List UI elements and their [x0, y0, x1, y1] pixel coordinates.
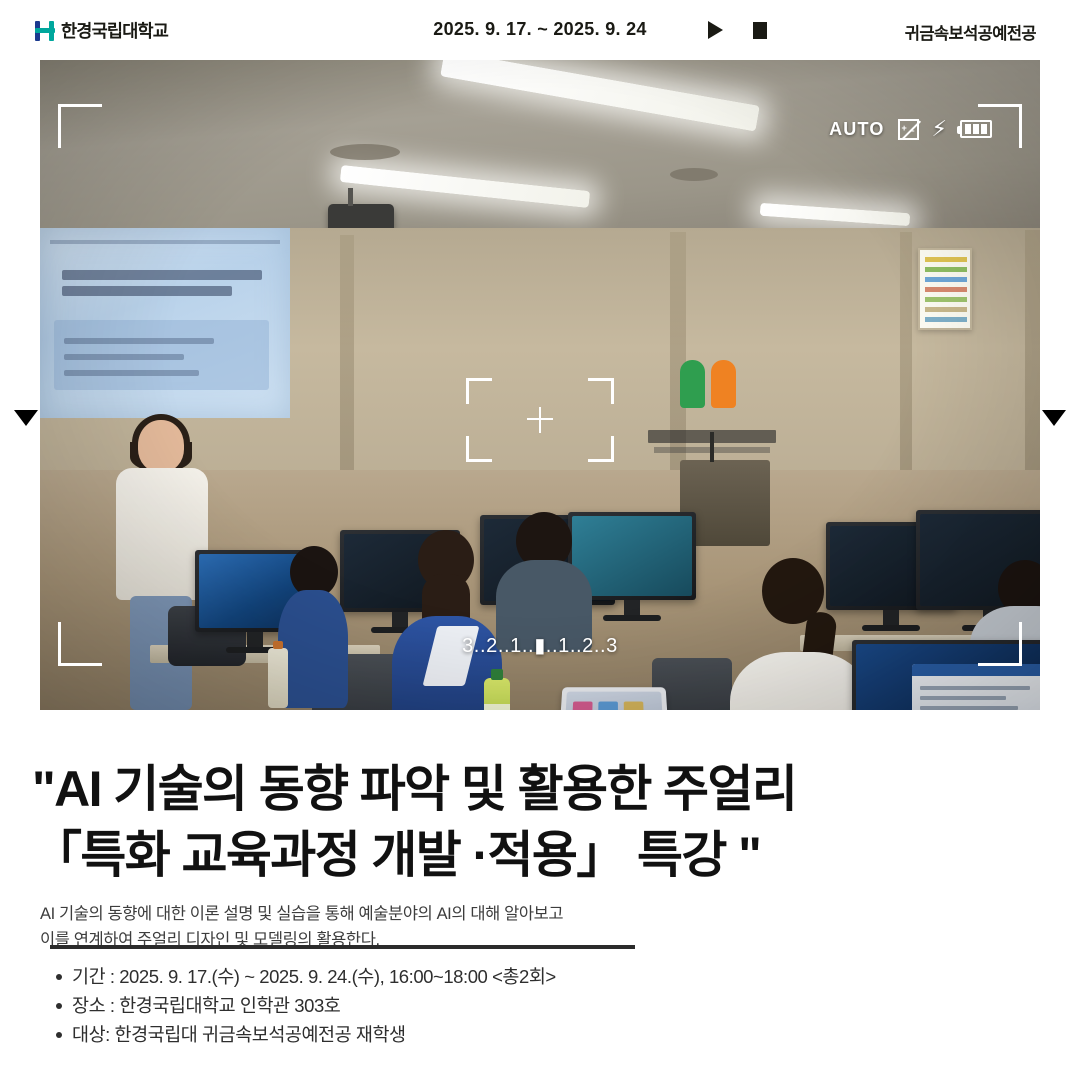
wall-panel	[900, 232, 912, 482]
date-range-label: 2025. 9. 17. ~ 2025. 9. 24	[433, 19, 646, 40]
beverage-bottle	[484, 678, 510, 710]
header-bar: 한경국립대학교 2025. 9. 17. ~ 2025. 9. 24 귀금속보석…	[0, 0, 1080, 60]
wall-poster-frame	[918, 248, 972, 330]
list-item: 장소 : 한경국립대학교 인학관 303호	[72, 991, 1010, 1020]
brand-block: 한경국립대학교	[34, 18, 168, 43]
department-label: 귀금속보석공예전공	[905, 20, 1036, 44]
hankyong-leaf-logo-icon	[680, 360, 742, 414]
classroom-photo: AUTO + − ⚡ 3..2..1..▮..1..2..3	[40, 60, 1040, 710]
student-figure	[492, 512, 596, 642]
play-icon[interactable]	[708, 21, 723, 39]
ceiling-vent	[330, 144, 400, 160]
projection-screen	[40, 228, 290, 418]
hankyong-h-mark-icon	[34, 20, 56, 42]
next-caret-icon[interactable]	[1042, 410, 1066, 426]
tablet-device	[557, 687, 670, 710]
beverage-bottle	[268, 648, 288, 708]
wall-panel	[1025, 230, 1040, 485]
ceiling-vent	[670, 168, 718, 181]
list-item: 대상: 한경국립대 귀금속보석공예전공 재학생	[72, 1020, 1010, 1049]
detail-list: 기간 : 2025. 9. 17.(수) ~ 2025. 9. 24.(수), …	[50, 962, 1010, 1049]
monitor-foreground	[852, 640, 1040, 710]
list-item: 기간 : 2025. 9. 17.(수) ~ 2025. 9. 24.(수), …	[72, 962, 1010, 991]
page-title: "AI 기술의 동향 파악 및 활용한 주얼리 「특화 교육과정 개발 ·적용」…	[32, 756, 1048, 888]
poster-page: 한경국립대학교 2025. 9. 17. ~ 2025. 9. 24 귀금속보석…	[0, 0, 1080, 1080]
student-figure	[730, 558, 870, 710]
transport-controls	[708, 21, 767, 39]
wall-panel	[340, 235, 354, 485]
section-divider	[50, 945, 635, 949]
university-name: 한경국립대학교	[61, 18, 168, 43]
prev-caret-icon[interactable]	[14, 410, 38, 426]
photo-scene	[40, 60, 1040, 710]
student-figure	[278, 546, 348, 706]
stop-icon[interactable]	[753, 22, 767, 39]
